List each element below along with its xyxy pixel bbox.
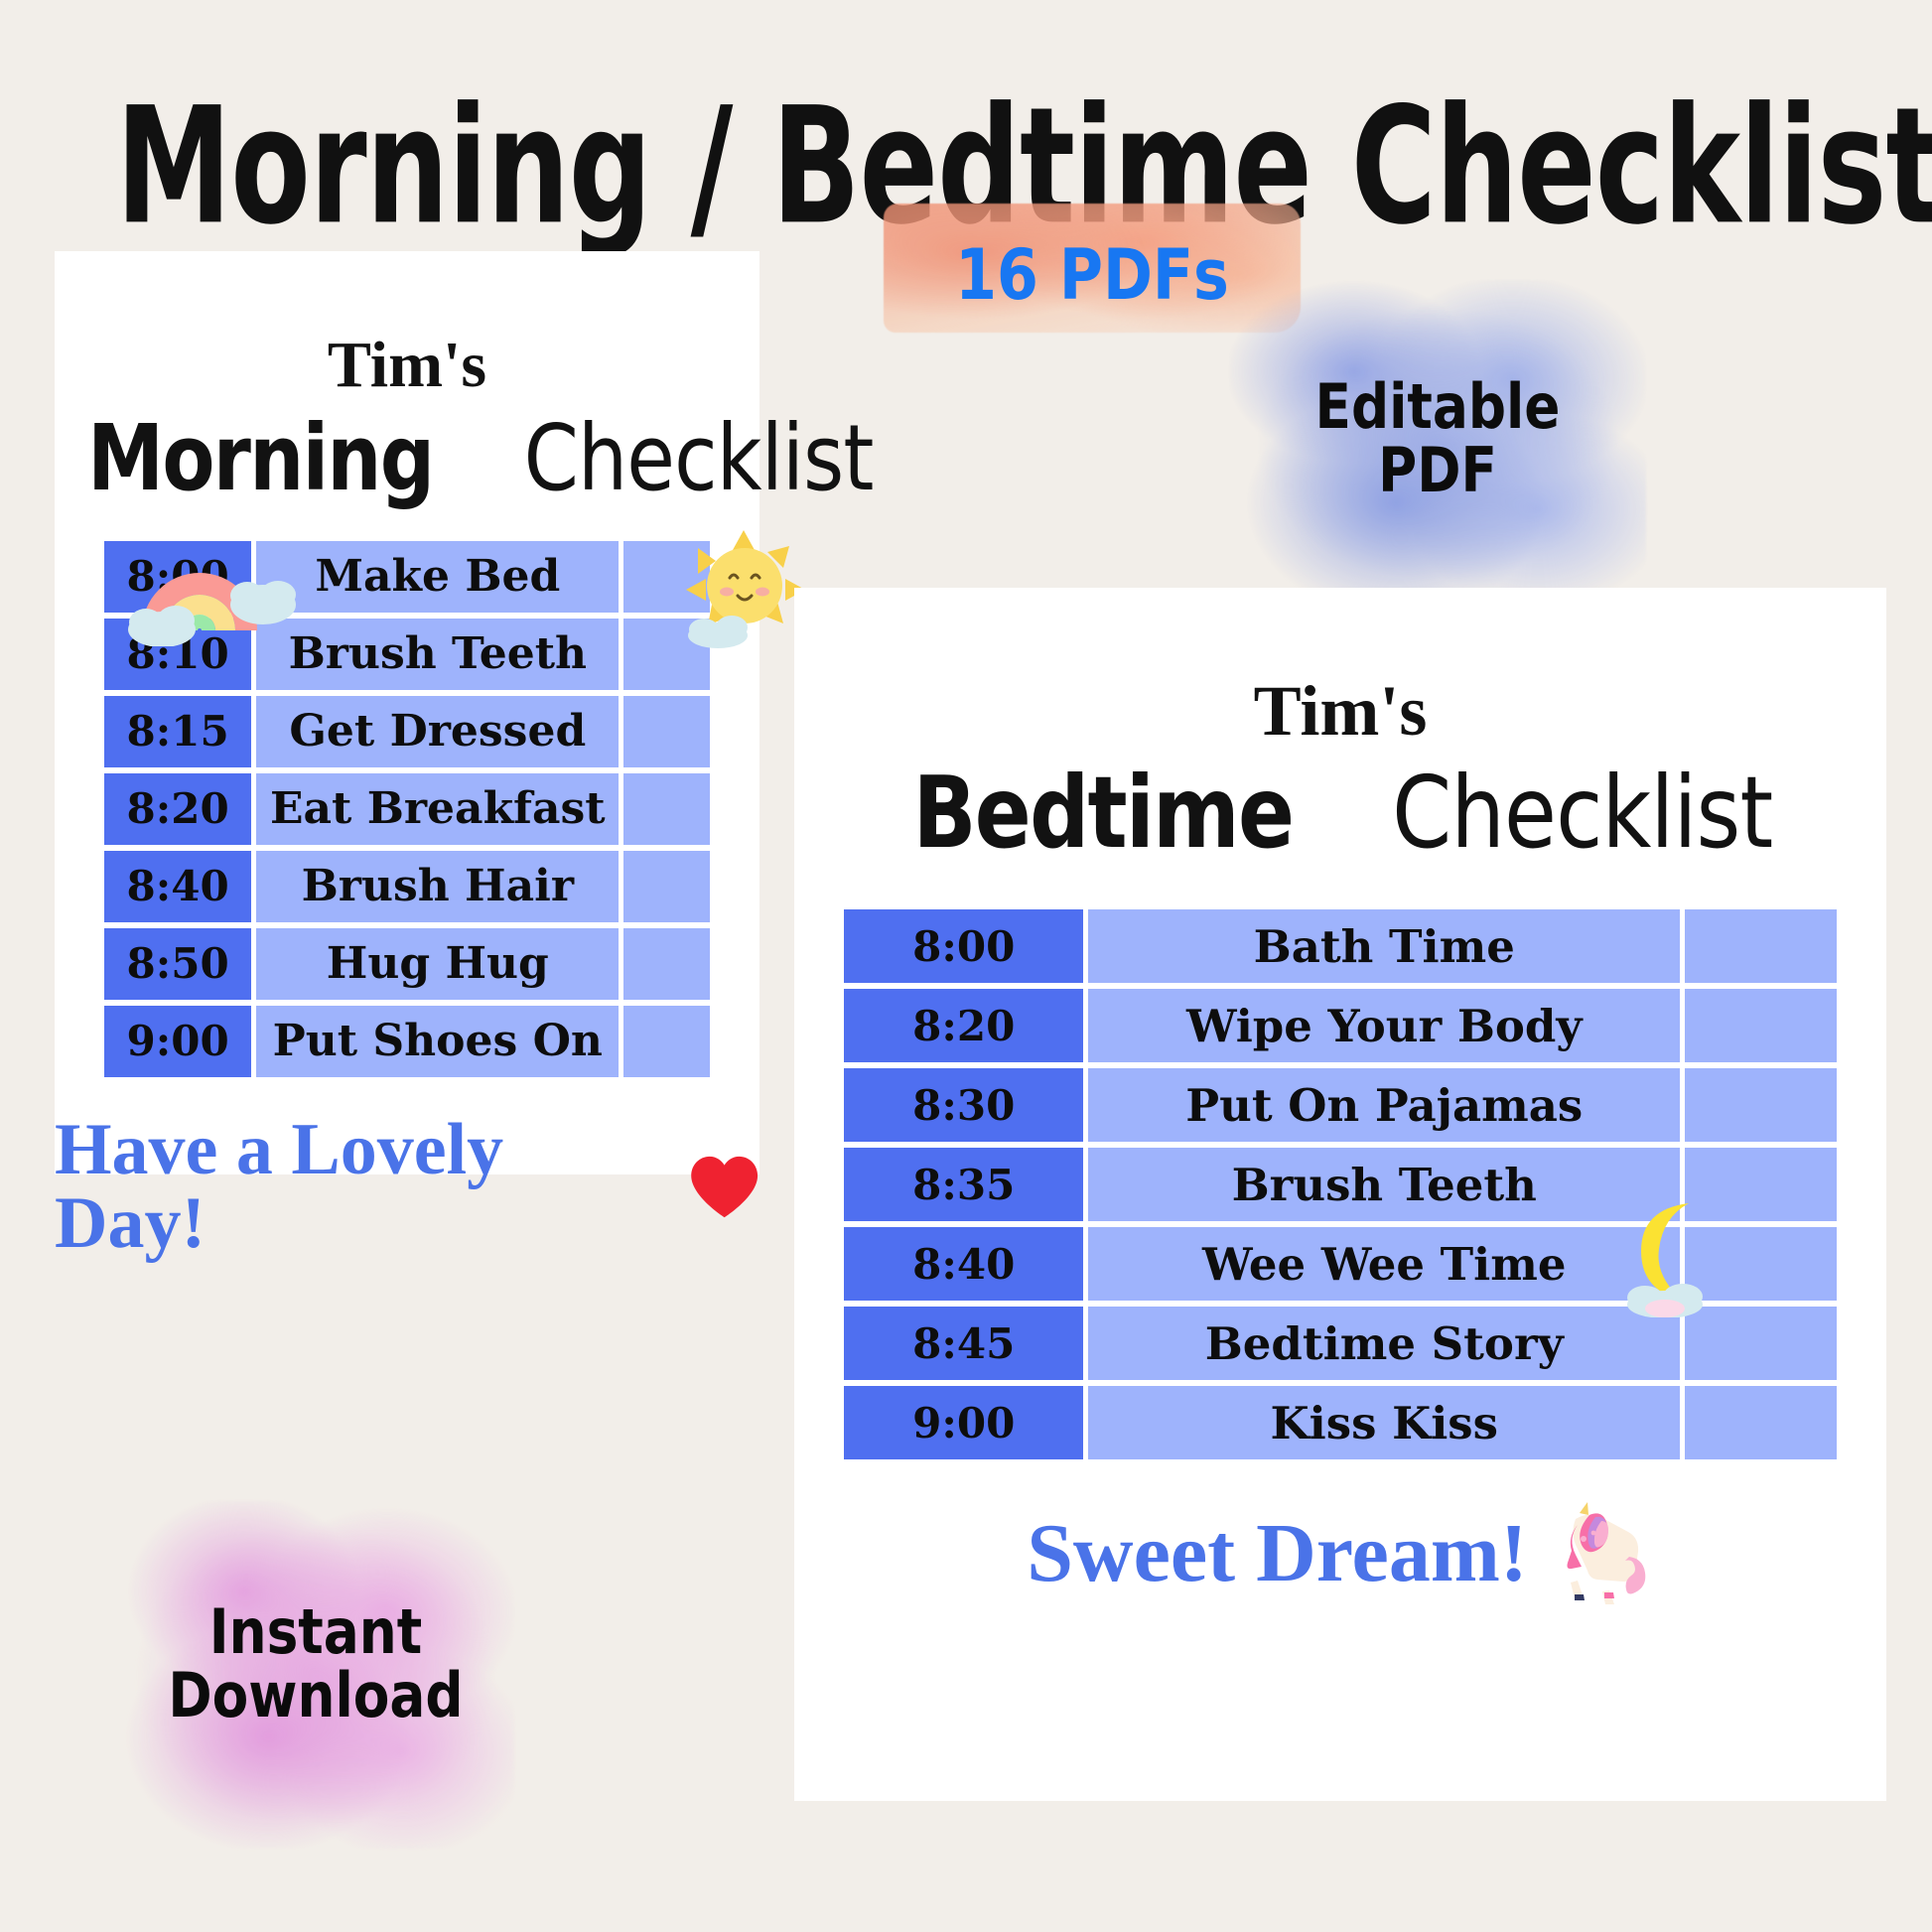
row-checkbox[interactable]	[623, 696, 710, 767]
heart-icon	[689, 1153, 759, 1220]
bedtime-heading-light: Checklist	[1392, 762, 1772, 864]
unicorn-icon	[1550, 1501, 1654, 1605]
row-time: 8:30	[844, 1068, 1083, 1142]
table-row: 8:50 Hug Hug	[104, 928, 710, 1000]
bedtime-table-body: 8:00 Bath Time 8:20 Wipe Your Body 8:30 …	[844, 909, 1837, 1459]
row-time: 8:50	[104, 928, 251, 1000]
row-task: Brush Hair	[256, 851, 619, 922]
table-row: 8:45 Bedtime Story	[844, 1307, 1837, 1380]
badge-instant-download-label: Instant Download	[145, 1600, 486, 1728]
row-time: 8:40	[104, 851, 251, 922]
bedtime-footer-text: Sweet Dream!	[1027, 1512, 1528, 1595]
morning-heading-bold: Morning	[87, 412, 433, 505]
bedtime-card-owner: Tim's	[794, 675, 1886, 747]
table-row: 8:20 Eat Breakfast	[104, 773, 710, 845]
row-checkbox[interactable]	[623, 1006, 710, 1077]
morning-card-heading: Morning Checklist	[55, 412, 759, 505]
morning-checklist-card: Tim's Morning Checklist 8:00 Make Bed 8:…	[55, 251, 759, 1174]
row-task: Kiss Kiss	[1088, 1386, 1680, 1459]
row-task: Hug Hug	[256, 928, 619, 1000]
row-time: 8:45	[844, 1307, 1083, 1380]
badge-16-pdfs-label: 16 PDFs	[912, 239, 1271, 312]
row-task: Make Bed	[256, 541, 619, 613]
badge-instant-download: Instant Download	[117, 1501, 514, 1849]
badge-editable-pdf-label: Editable PDF	[1258, 375, 1616, 503]
row-time: 8:20	[844, 989, 1083, 1062]
table-row: 9:00 Put Shoes On	[104, 1006, 710, 1077]
row-checkbox[interactable]	[1685, 909, 1837, 983]
row-task: Get Dressed	[256, 696, 619, 767]
table-row: 9:00 Kiss Kiss	[844, 1386, 1837, 1459]
row-time: 8:00	[844, 909, 1083, 983]
row-time: 8:15	[104, 696, 251, 767]
table-row: 8:15 Get Dressed	[104, 696, 710, 767]
row-task: Put Shoes On	[256, 1006, 619, 1077]
row-checkbox[interactable]	[623, 928, 710, 1000]
row-task: Put On Pajamas	[1088, 1068, 1680, 1142]
row-checkbox[interactable]	[623, 851, 710, 922]
bedtime-card-footer: Sweet Dream!	[794, 1501, 1886, 1605]
row-task: Wipe Your Body	[1088, 989, 1680, 1062]
row-time: 8:40	[844, 1227, 1083, 1301]
row-time: 8:35	[844, 1148, 1083, 1221]
row-task: Brush Teeth	[256, 619, 619, 690]
row-time: 9:00	[104, 1006, 251, 1077]
bedtime-checklist-card: Tim's Bedtime Checklist 8:00 Bath Time 8…	[794, 588, 1886, 1801]
table-row: 8:40 Brush Hair	[104, 851, 710, 922]
row-checkbox[interactable]	[623, 773, 710, 845]
morning-heading-light: Checklist	[523, 412, 873, 505]
row-task: Wee Wee Time	[1088, 1227, 1680, 1301]
badge-editable-pdf: Editable PDF	[1229, 280, 1646, 608]
table-row: 8:00 Bath Time	[844, 909, 1837, 983]
row-task: Brush Teeth	[1088, 1148, 1680, 1221]
moon-icon	[1603, 1193, 1757, 1317]
row-time: 8:20	[104, 773, 251, 845]
row-checkbox[interactable]	[1685, 1386, 1837, 1459]
poster-canvas: Morning / Bedtime Checklist 16 PDFs Edit…	[0, 0, 1932, 1932]
row-task: Bedtime Story	[1088, 1307, 1680, 1380]
table-row: 8:30 Put On Pajamas	[844, 1068, 1837, 1142]
bedtime-card-heading: Bedtime Checklist	[794, 762, 1886, 864]
row-checkbox[interactable]	[1685, 989, 1837, 1062]
morning-card-owner: Tim's	[55, 333, 759, 398]
morning-card-footer: Have a Lovely Day!	[55, 1113, 759, 1260]
bedtime-heading-bold: Bedtime	[913, 762, 1294, 864]
row-checkbox[interactable]	[1685, 1068, 1837, 1142]
rainbow-icon	[124, 527, 308, 646]
row-task: Bath Time	[1088, 909, 1680, 983]
row-time: 9:00	[844, 1386, 1083, 1459]
morning-footer-text: Have a Lovely Day!	[55, 1113, 667, 1260]
row-checkbox[interactable]	[1685, 1307, 1837, 1380]
table-row: 8:20 Wipe Your Body	[844, 989, 1837, 1062]
row-task: Eat Breakfast	[256, 773, 619, 845]
bedtime-schedule-table: 8:00 Bath Time 8:20 Wipe Your Body 8:30 …	[839, 903, 1842, 1465]
